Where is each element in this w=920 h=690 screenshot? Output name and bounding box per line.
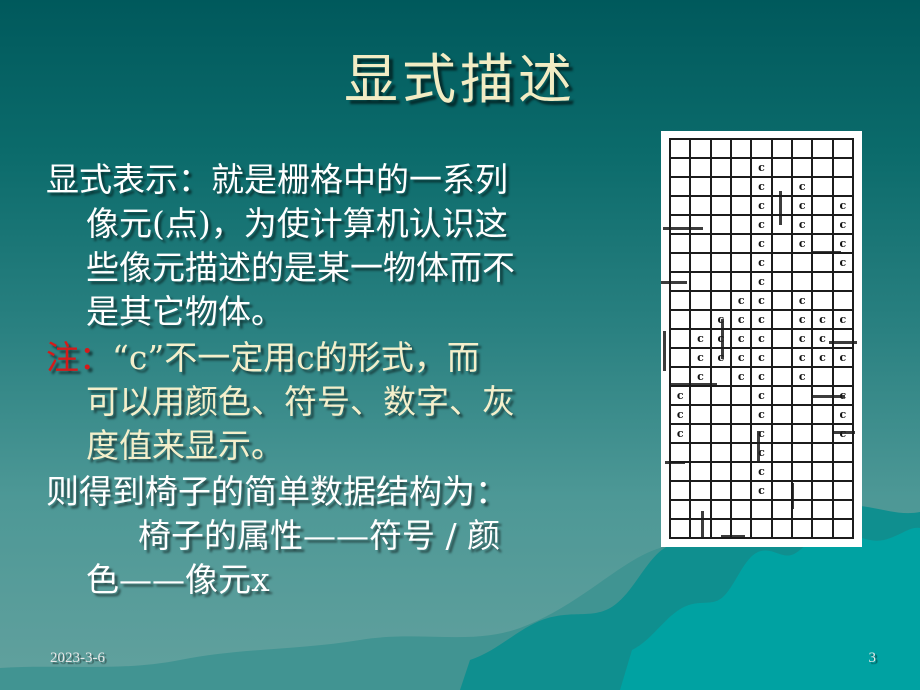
paragraph-note: 注：“c”不一定用c的形式，而 可以用颜色、符号、数字、灰 度值来显示。: [46, 336, 626, 468]
raster-cell: [712, 406, 732, 425]
text-line: 则得到椅子的简单数据结构为：: [46, 470, 626, 514]
raster-cell: c: [732, 292, 752, 311]
raster-cell: [793, 520, 813, 539]
slide-title: 显式描述: [0, 48, 920, 112]
raster-cell: c: [732, 330, 752, 349]
raster-cell: c: [813, 349, 833, 368]
raster-cell: [691, 444, 711, 463]
raster-cell: c: [671, 406, 691, 425]
raster-cell: c: [793, 197, 813, 216]
raster-chair-image: cccccccccccccccccccccccccccccccccccccccc…: [661, 131, 862, 547]
raster-cell: [732, 178, 752, 197]
raster-cell: [691, 140, 711, 159]
raster-cell: [712, 463, 732, 482]
raster-cell: c: [793, 292, 813, 311]
raster-cell: c: [834, 235, 854, 254]
raster-cell: [732, 387, 752, 406]
raster-cell: c: [732, 368, 752, 387]
raster-cell: [834, 273, 854, 292]
raster-cell: [691, 387, 711, 406]
raster-cell: c: [752, 273, 772, 292]
raster-cell: c: [732, 311, 752, 330]
raster-cell: [671, 520, 691, 539]
raster-cell: [712, 292, 732, 311]
raster-cell: [813, 292, 833, 311]
text-line: 显式表示：就是栅格中的一系列: [46, 158, 626, 202]
raster-cell: [712, 444, 732, 463]
raster-cell: [732, 463, 752, 482]
raster-cell: [752, 140, 772, 159]
raster-cell: [813, 216, 833, 235]
raster-cell: [712, 387, 732, 406]
raster-cell: [712, 235, 732, 254]
raster-cell: [691, 197, 711, 216]
raster-cell: c: [752, 349, 772, 368]
raster-cell: [773, 178, 793, 197]
raster-cell: [691, 501, 711, 520]
slide-body: 显式表示：就是栅格中的一系列 像元(点)，为使计算机认识这 些像元描述的是某一物…: [46, 158, 626, 604]
raster-cell: c: [752, 292, 772, 311]
raster-cell: c: [813, 311, 833, 330]
raster-cell: [834, 140, 854, 159]
raster-cell: c: [793, 368, 813, 387]
raster-cell: [834, 463, 854, 482]
raster-cell: c: [793, 349, 813, 368]
raster-cell: c: [752, 387, 772, 406]
raster-cell: c: [752, 178, 772, 197]
raster-cell: [773, 368, 793, 387]
raster-cell: [813, 387, 833, 406]
raster-cell: [793, 140, 813, 159]
footer-page-number: 3: [869, 650, 877, 667]
paragraph-data-structure: 则得到椅子的简单数据结构为： 椅子的属性——符号 / 颜 色——像元x: [46, 470, 626, 602]
raster-cell: [793, 463, 813, 482]
raster-cell: [732, 216, 752, 235]
raster-cell: c: [691, 349, 711, 368]
raster-cell: [773, 159, 793, 178]
text-line: 可以用颜色、符号、数字、灰: [46, 380, 626, 424]
raster-cell: [732, 140, 752, 159]
raster-cell: [712, 254, 732, 273]
raster-cell: c: [752, 216, 772, 235]
raster-cell: [732, 254, 752, 273]
footer-date: 2023-3-6: [50, 650, 105, 667]
raster-cell: [793, 501, 813, 520]
raster-cell: [712, 425, 732, 444]
raster-cell: [732, 425, 752, 444]
raster-grid: cccccccccccccccccccccccccccccccccccccccc…: [669, 138, 854, 539]
raster-cell: [834, 368, 854, 387]
scan-artifact: [663, 331, 666, 371]
raster-cell: [732, 159, 752, 178]
raster-cell: c: [793, 178, 813, 197]
raster-cell: [712, 216, 732, 235]
raster-cell: [691, 463, 711, 482]
raster-cell: c: [752, 254, 772, 273]
raster-cell: [773, 330, 793, 349]
raster-cell: [671, 368, 691, 387]
raster-cell: [813, 273, 833, 292]
raster-cell: [793, 444, 813, 463]
raster-cell: [813, 159, 833, 178]
raster-cell: [773, 463, 793, 482]
raster-cell: c: [752, 482, 772, 501]
raster-cell: c: [691, 330, 711, 349]
raster-cell: c: [752, 425, 772, 444]
raster-cell: c: [813, 330, 833, 349]
raster-cell: [712, 197, 732, 216]
raster-cell: [793, 254, 813, 273]
raster-cell: [712, 140, 732, 159]
raster-cell: [671, 444, 691, 463]
raster-cell: c: [752, 463, 772, 482]
raster-cell: [732, 501, 752, 520]
raster-cell: [773, 482, 793, 501]
raster-cell: c: [752, 444, 772, 463]
raster-cell: c: [834, 349, 854, 368]
note-first-line: 注：“c”不一定用c的形式，而: [46, 336, 626, 380]
raster-cell: [691, 406, 711, 425]
note-label: 注：: [46, 338, 112, 377]
text-line: 度值来显示。: [46, 424, 626, 468]
raster-cell: [691, 425, 711, 444]
raster-cell: [793, 425, 813, 444]
raster-cell: c: [752, 159, 772, 178]
raster-cell: [813, 254, 833, 273]
raster-cell: [691, 216, 711, 235]
raster-cell: [813, 178, 833, 197]
raster-cell: [813, 501, 833, 520]
raster-cell: [691, 520, 711, 539]
raster-cell: [712, 368, 732, 387]
text-line: 色——像元x: [46, 558, 626, 602]
text-line: 些像元描述的是某一物体而不: [46, 246, 626, 290]
raster-cell: c: [752, 368, 772, 387]
raster-cell: [813, 140, 833, 159]
raster-cell: [813, 520, 833, 539]
raster-cell: [732, 273, 752, 292]
raster-cell: [752, 520, 772, 539]
raster-cell: [732, 520, 752, 539]
raster-cell: [773, 425, 793, 444]
raster-cell: c: [834, 425, 854, 444]
raster-cell: c: [752, 311, 772, 330]
raster-cell: c: [712, 330, 732, 349]
raster-cell: [834, 159, 854, 178]
raster-cell: c: [671, 425, 691, 444]
raster-cell: [732, 235, 752, 254]
raster-cell: [691, 273, 711, 292]
raster-cell: [773, 349, 793, 368]
raster-cell: [773, 140, 793, 159]
raster-cell: c: [752, 197, 772, 216]
raster-cell: [671, 482, 691, 501]
text-line: 椅子的属性——符号 / 颜: [46, 514, 626, 558]
raster-cell: [773, 501, 793, 520]
raster-cell: [813, 425, 833, 444]
raster-cell: [773, 273, 793, 292]
raster-cell: [813, 463, 833, 482]
raster-cell: c: [834, 387, 854, 406]
raster-cell: [671, 349, 691, 368]
raster-cell: [671, 159, 691, 178]
raster-cell: [793, 406, 813, 425]
raster-cell: [773, 406, 793, 425]
text-line: 像元(点)，为使计算机认识这: [46, 202, 626, 246]
raster-cell: [834, 482, 854, 501]
text-line: “c”不一定用c的形式，而: [112, 338, 480, 377]
raster-cell: [712, 501, 732, 520]
raster-cell: [671, 140, 691, 159]
raster-cell: [793, 159, 813, 178]
raster-cell: [671, 216, 691, 235]
raster-cell: [671, 197, 691, 216]
raster-cell: c: [793, 216, 813, 235]
raster-cell: c: [834, 254, 854, 273]
raster-cell: [671, 501, 691, 520]
raster-cell: c: [732, 349, 752, 368]
raster-cell: [671, 463, 691, 482]
raster-cell: c: [834, 216, 854, 235]
raster-cell: c: [834, 406, 854, 425]
raster-cell: [773, 520, 793, 539]
raster-cell: [793, 482, 813, 501]
raster-cell: [793, 387, 813, 406]
text-line: 是其它物体。: [46, 290, 626, 334]
raster-cell: [813, 406, 833, 425]
raster-cell: [834, 292, 854, 311]
raster-cell: [671, 292, 691, 311]
raster-cell: [813, 444, 833, 463]
raster-cell: c: [834, 197, 854, 216]
raster-cell: c: [671, 387, 691, 406]
raster-cell: [671, 178, 691, 197]
raster-cell: [813, 197, 833, 216]
raster-cell: [834, 330, 854, 349]
raster-cell: c: [793, 235, 813, 254]
raster-cell: [834, 178, 854, 197]
raster-cell: [793, 273, 813, 292]
raster-cell: [671, 273, 691, 292]
raster-cell: [834, 444, 854, 463]
raster-cell: [671, 311, 691, 330]
raster-cell: [691, 482, 711, 501]
raster-cell: [773, 197, 793, 216]
paragraph-explicit-representation: 显式表示：就是栅格中的一系列 像元(点)，为使计算机认识这 些像元描述的是某一物…: [46, 158, 626, 334]
raster-cell: [773, 235, 793, 254]
raster-cell: c: [752, 406, 772, 425]
raster-cell: c: [793, 330, 813, 349]
raster-cell: [712, 482, 732, 501]
raster-cell: [732, 406, 752, 425]
raster-cell: [691, 254, 711, 273]
raster-cell: [813, 368, 833, 387]
raster-cell: [732, 444, 752, 463]
raster-cell: [773, 292, 793, 311]
raster-cell: c: [793, 311, 813, 330]
raster-cell: [712, 520, 732, 539]
raster-cell: [671, 254, 691, 273]
raster-cell: [691, 311, 711, 330]
raster-cell: [773, 254, 793, 273]
raster-cell: [691, 178, 711, 197]
raster-cell: c: [691, 368, 711, 387]
raster-cell: c: [712, 311, 732, 330]
raster-cell: [834, 520, 854, 539]
raster-cell: [691, 235, 711, 254]
raster-cell: [671, 330, 691, 349]
raster-cell: [752, 501, 772, 520]
raster-cell: [712, 273, 732, 292]
raster-cell: [732, 482, 752, 501]
raster-cell: [671, 235, 691, 254]
raster-cell: c: [752, 330, 772, 349]
raster-cell: [813, 235, 833, 254]
raster-cell: [773, 387, 793, 406]
raster-cell: [813, 482, 833, 501]
raster-cell: [773, 444, 793, 463]
raster-cell: [773, 216, 793, 235]
raster-cell: [691, 159, 711, 178]
raster-cell: c: [752, 235, 772, 254]
raster-cell: c: [712, 349, 732, 368]
raster-cell: [732, 197, 752, 216]
raster-cell: [773, 311, 793, 330]
slide-canvas: 显式描述 显式表示：就是栅格中的一系列 像元(点)，为使计算机认识这 些像元描述…: [0, 0, 920, 690]
raster-cell: c: [834, 311, 854, 330]
raster-cell: [834, 501, 854, 520]
raster-cell: [691, 292, 711, 311]
raster-cell: [712, 178, 732, 197]
raster-cell: [712, 159, 732, 178]
